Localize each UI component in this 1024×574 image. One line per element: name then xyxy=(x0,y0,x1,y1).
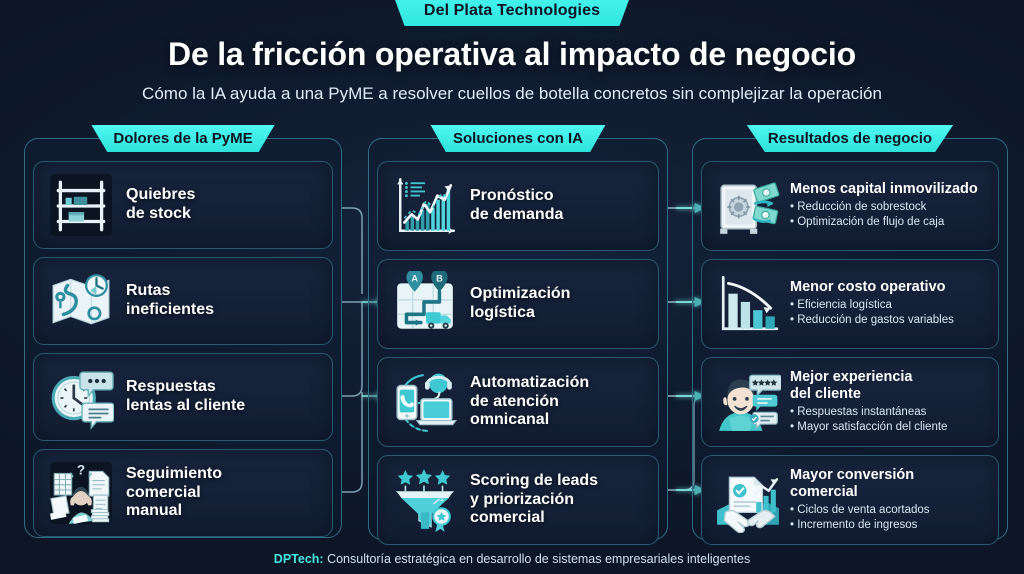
result-card-3[interactable]: Mejor experienciadel cliente Respuestas … xyxy=(701,357,999,447)
solution-card-4-title: Scoring de leadsy priorizacióncomercial xyxy=(470,472,598,529)
svg-text:A: A xyxy=(411,273,418,283)
pain-card-4[interactable]: ? Seguimientocomercialmanual xyxy=(33,449,333,537)
handshake-growth-icon xyxy=(712,464,784,536)
solution-card-1-title: Pronósticode demanda xyxy=(470,187,563,225)
omnichannel-devices-icon xyxy=(388,365,462,439)
result-card-3-bullets: Respuestas instantáneasMayor satisfacció… xyxy=(790,405,988,435)
clock-chat-icon xyxy=(44,360,118,434)
result-card-2-title: Menor costo operativo xyxy=(790,279,988,296)
result-bullet: Optimización de flujo de caja xyxy=(790,215,988,230)
result-bullet: Mayor satisfacción del cliente xyxy=(790,420,988,435)
result-bullet: Incremento de ingresos xyxy=(790,518,988,533)
result-card-2-text: Menor costo operativo Eficiencia logísti… xyxy=(790,279,988,328)
solution-card-3-title: Automatizaciónde atenciónomnicanal xyxy=(470,374,589,431)
funnel-stars-award-icon: 1 xyxy=(388,463,462,537)
result-bullet: Reducción de gastos variables xyxy=(790,313,988,328)
result-card-1[interactable]: Menos capital inmovilizado Reducción de … xyxy=(701,161,999,251)
route-truck-map-icon: A B xyxy=(388,267,462,341)
result-card-3-title: Mejor experienciadel cliente xyxy=(790,369,988,402)
column-results: Resultados de negocio xyxy=(692,138,1008,540)
solution-card-2-title: Optimizaciónlogística xyxy=(470,285,570,323)
pain-card-3[interactable]: Respuestaslentas al cliente xyxy=(33,353,333,441)
column-pains: Dolores de la PyME Quiebresde stock xyxy=(24,138,342,538)
result-bullet: Eficiencia logística xyxy=(790,298,988,313)
infographic-root: Del Plata Technologies De la fricción op… xyxy=(0,0,1024,574)
pain-card-1[interactable]: Quiebresde stock xyxy=(33,161,333,249)
footer-text: Consultoría estratégica en desarrollo de… xyxy=(327,552,750,566)
result-bullet: Respuestas instantáneas xyxy=(790,405,988,420)
svg-text:?: ? xyxy=(77,462,85,477)
page-subtitle: Cómo la IA ayuda a una PyME a resolver c… xyxy=(0,84,1024,104)
solution-card-3[interactable]: Automatizaciónde atenciónomnicanal xyxy=(377,357,659,447)
result-card-2[interactable]: Menor costo operativo Eficiencia logísti… xyxy=(701,259,999,349)
safe-cash-icon xyxy=(712,170,784,242)
column-results-title: Resultados de negocio xyxy=(738,125,962,152)
solution-card-2[interactable]: A B Optimizaciónlogística xyxy=(377,259,659,349)
happy-customer-reviews-icon xyxy=(712,366,784,438)
solution-card-1[interactable]: Pronósticode demanda xyxy=(377,161,659,251)
pain-card-3-title: Respuestaslentas al cliente xyxy=(126,378,245,416)
result-card-3-text: Mejor experienciadel cliente Respuestas … xyxy=(790,369,988,435)
result-bullet: Ciclos de venta acortados xyxy=(790,503,988,518)
pain-card-2[interactable]: Rutasineficientes xyxy=(33,257,333,345)
page-title: De la fricción operativa al impacto de n… xyxy=(0,36,1024,73)
map-route-clock-icon xyxy=(44,264,118,338)
result-card-2-bullets: Eficiencia logísticaReducción de gastos … xyxy=(790,298,988,328)
result-card-1-bullets: Reducción de sobrestockOptimización de f… xyxy=(790,200,988,230)
result-card-4[interactable]: Mayor conversióncomercial Ciclos de vent… xyxy=(701,455,999,545)
column-solutions: Soluciones con IA xyxy=(368,138,668,540)
footer: DPTech: Consultoría estratégica en desar… xyxy=(0,552,1024,566)
svg-text:1: 1 xyxy=(439,494,444,503)
pain-card-1-title: Quiebresde stock xyxy=(126,186,195,224)
result-card-1-text: Menos capital inmovilizado Reducción de … xyxy=(790,181,988,230)
footer-brand: DPTech: xyxy=(274,552,324,566)
result-card-4-text: Mayor conversióncomercial Ciclos de vent… xyxy=(790,467,988,533)
result-card-1-title: Menos capital inmovilizado xyxy=(790,181,988,198)
brand-pill: Del Plata Technologies xyxy=(390,0,634,26)
pain-card-4-title: Seguimientocomercialmanual xyxy=(126,465,222,522)
overwhelmed-paperwork-icon: ? xyxy=(44,456,118,530)
declining-bars-icon xyxy=(712,268,784,340)
column-pains-title: Dolores de la PyME xyxy=(83,125,282,152)
result-card-4-bullets: Ciclos de venta acortadosIncremento de i… xyxy=(790,503,988,533)
shelf-empty-icon xyxy=(44,168,118,242)
forecast-chart-icon xyxy=(388,169,462,243)
column-solutions-title: Soluciones con IA xyxy=(423,125,613,152)
pain-card-2-title: Rutasineficientes xyxy=(126,282,214,320)
solution-card-4[interactable]: 1 Scoring de leadsy priorizacióncomercia… xyxy=(377,455,659,545)
result-card-4-title: Mayor conversióncomercial xyxy=(790,467,988,500)
svg-text:B: B xyxy=(436,273,443,283)
result-bullet: Reducción de sobrestock xyxy=(790,200,988,215)
